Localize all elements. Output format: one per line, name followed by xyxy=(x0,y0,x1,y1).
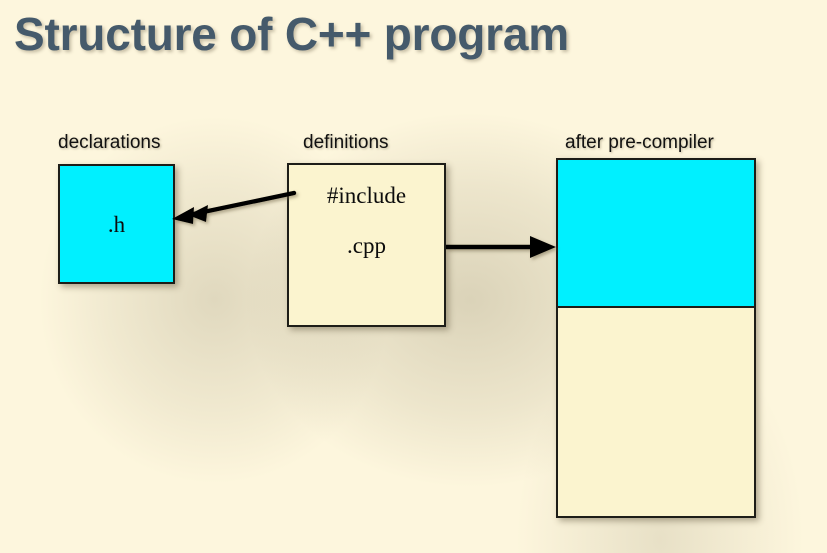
node-definitions-include-label: #include xyxy=(289,183,444,209)
caption-after-pre-compiler: after pre-compiler xyxy=(565,132,714,154)
arrow-definitions-to-declarations-icon xyxy=(168,186,300,232)
node-after-pre-compiler-box[interactable] xyxy=(556,158,756,518)
slide-canvas: Structure of C++ program declarations .h… xyxy=(0,0,827,553)
node-definitions-cpp-label: .cpp xyxy=(289,233,444,259)
node-declarations-box[interactable]: .h xyxy=(58,164,175,284)
node-declarations-label: .h xyxy=(60,212,173,238)
page-title: Structure of C++ program xyxy=(14,4,814,64)
caption-declarations: declarations xyxy=(58,132,160,154)
node-after-pre-compiler-header-band xyxy=(558,160,754,308)
node-definitions-box[interactable]: #include .cpp xyxy=(287,163,446,327)
arrow-definitions-to-after-pre-compiler-icon xyxy=(444,236,562,262)
node-after-pre-compiler-source-band xyxy=(558,308,754,516)
caption-definitions: definitions xyxy=(303,132,389,154)
